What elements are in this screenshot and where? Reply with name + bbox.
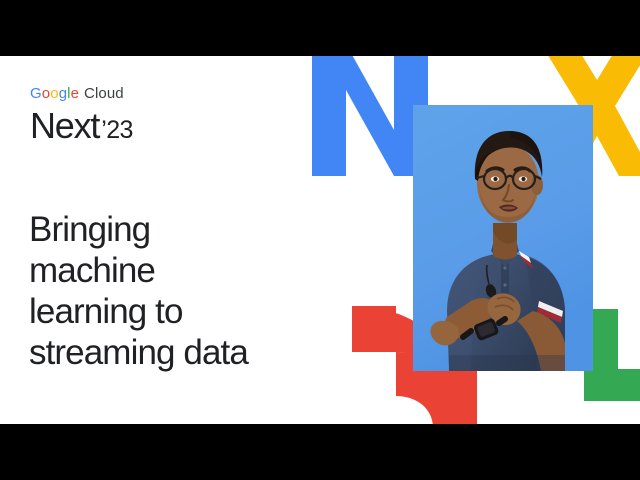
google-letter-e: e <box>71 85 79 102</box>
brand-lockup: GoogleCloud Next’23 <box>30 86 133 144</box>
google-letter-o1: o <box>42 85 50 102</box>
slide-headline: Bringing machine learning to streaming d… <box>29 209 248 374</box>
next-word: Next <box>30 105 99 146</box>
cloud-wordmark: Cloud <box>84 85 124 102</box>
google-cloud-logo: GoogleCloud <box>30 86 133 101</box>
speaker-photo <box>413 105 593 371</box>
headline-line-1: Bringing <box>29 209 248 250</box>
slide-stage: GoogleCloud Next’23 Bringing machine lea… <box>0 0 640 480</box>
headline-line-4: streaming data <box>29 332 248 373</box>
google-letter-o2: o <box>50 85 58 102</box>
google-letter-g: G <box>30 85 42 102</box>
letterbox-bottom <box>0 424 640 480</box>
headline-line-2: machine <box>29 250 248 291</box>
presentation-slide: GoogleCloud Next’23 Bringing machine lea… <box>0 56 640 424</box>
next-event-wordmark: Next’23 <box>30 108 133 144</box>
headline-line-3: learning to <box>29 291 248 332</box>
letterbox-top <box>0 0 640 56</box>
next-year: ’23 <box>101 116 133 144</box>
google-letter-g2: g <box>59 85 67 102</box>
